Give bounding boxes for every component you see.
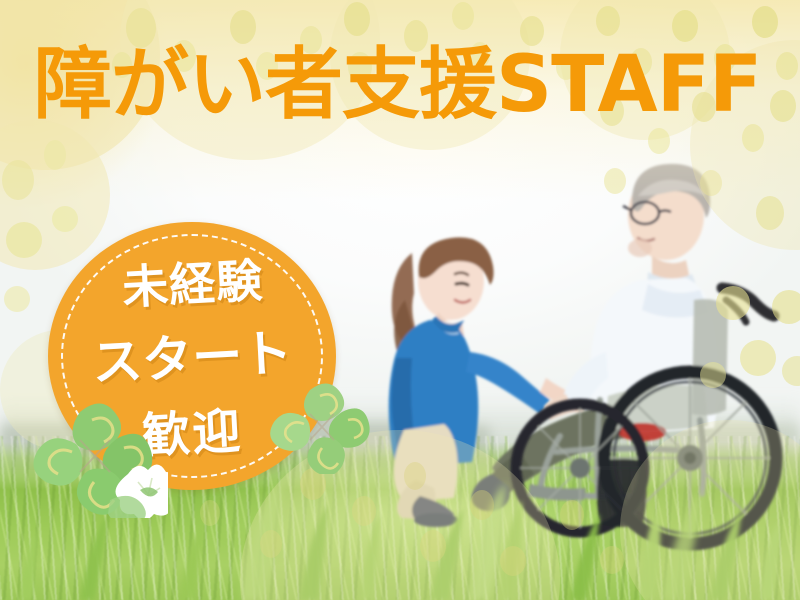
clover-icon-right	[268, 378, 370, 474]
clover-icon-left	[18, 378, 168, 518]
page-title: 障がい者支援STAFF	[34, 46, 774, 124]
badge-line-1: 未経験	[120, 244, 264, 317]
recruitment-banner: 障がい者支援STAFF 未経験 スタート 歓迎	[0, 0, 800, 600]
